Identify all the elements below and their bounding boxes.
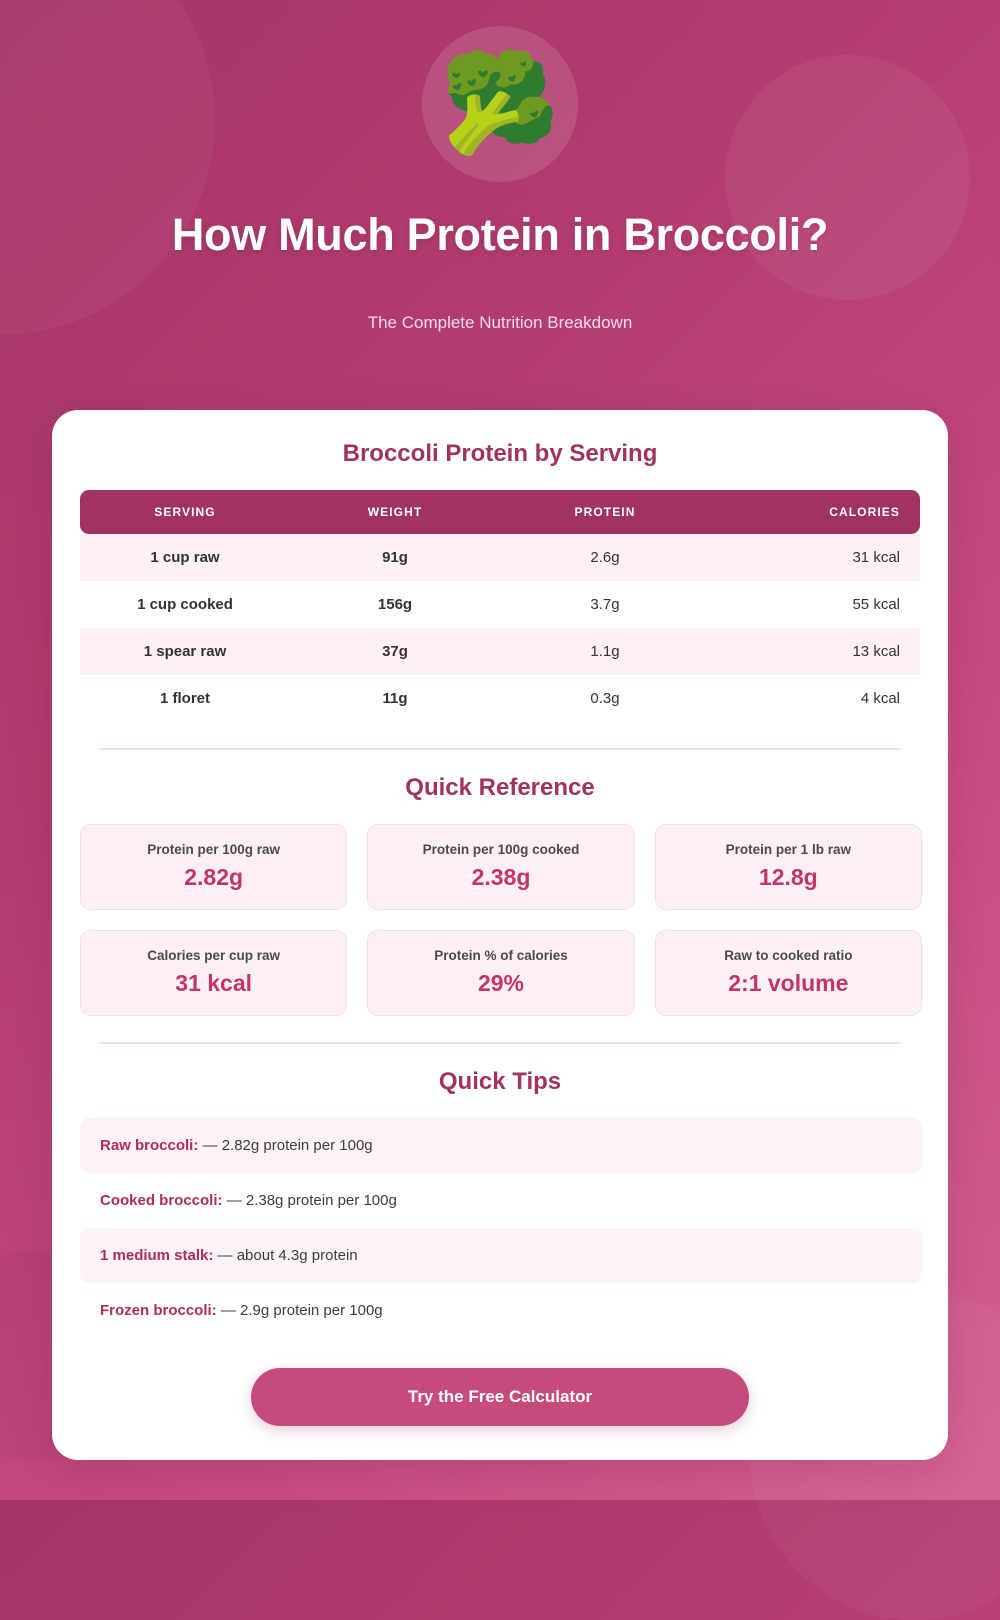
infographic-page: 🥦 How Much Protein in Broccoli? The Comp…	[0, 0, 1000, 1500]
tip-label: Frozen broccoli:	[100, 1302, 217, 1319]
page-title: How Much Protein in Broccoli?	[0, 208, 1000, 263]
section-divider-1	[99, 748, 901, 750]
qr-card-value: 29%	[378, 970, 623, 997]
table-header-row: SERVING WEIGHT PROTEIN CALORIES	[80, 490, 920, 534]
cell-serving: 1 cup cooked	[80, 581, 290, 628]
quick-reference-card: Calories per cup raw 31 kcal	[80, 930, 347, 1016]
content-card: Broccoli Protein by Serving SERVING WEIG…	[52, 410, 948, 1460]
cell-weight: 37g	[290, 628, 500, 675]
qr-card-value: 2.82g	[91, 864, 336, 891]
quick-reference-card: Protein per 100g raw 2.82g	[80, 824, 347, 910]
qr-card-value: 2.38g	[378, 864, 623, 891]
qr-card-label: Raw to cooked ratio	[666, 948, 911, 963]
broccoli-icon: 🥦	[440, 56, 560, 152]
tip-label: Cooked broccoli:	[100, 1192, 223, 1209]
tip-label: 1 medium stalk:	[100, 1247, 213, 1264]
qr-card-label: Protein per 100g cooked	[378, 842, 623, 857]
qr-card-value: 2:1 volume	[666, 970, 911, 997]
tip-label: Raw broccoli:	[100, 1137, 198, 1154]
qr-card-value: 12.8g	[666, 864, 911, 891]
qr-card-value: 31 kcal	[91, 970, 336, 997]
table-row: 1 cup cooked 156g 3.7g 55 kcal	[80, 581, 920, 628]
tip-text: — about 4.3g protein	[218, 1247, 358, 1264]
cell-protein: 2.6g	[500, 534, 710, 581]
column-header-serving: SERVING	[80, 490, 290, 534]
section-divider-2	[99, 1042, 901, 1044]
tip-row: Raw broccoli: — 2.82g protein per 100g	[80, 1118, 922, 1173]
cta-container: Try the Free Calculator	[80, 1368, 920, 1426]
table-row: 1 cup raw 91g 2.6g 31 kcal	[80, 534, 920, 581]
quick-reference-card: Protein per 1 lb raw 12.8g	[655, 824, 922, 910]
cell-calories: 55 kcal	[710, 581, 920, 628]
nutrition-table: SERVING WEIGHT PROTEIN CALORIES 1 cup ra…	[80, 490, 920, 722]
try-free-calculator-button[interactable]: Try the Free Calculator	[251, 1368, 749, 1426]
cell-serving: 1 spear raw	[80, 628, 290, 675]
quick-reference-title: Quick Reference	[80, 774, 920, 802]
cell-weight: 91g	[290, 534, 500, 581]
table-row: 1 spear raw 37g 1.1g 13 kcal	[80, 628, 920, 675]
qr-card-label: Protein per 100g raw	[91, 842, 336, 857]
quick-reference-card: Protein % of calories 29%	[367, 930, 634, 1016]
qr-card-label: Calories per cup raw	[91, 948, 336, 963]
cell-calories: 31 kcal	[710, 534, 920, 581]
cell-calories: 13 kcal	[710, 628, 920, 675]
column-header-protein: PROTEIN	[500, 490, 710, 534]
qr-card-label: Protein % of calories	[378, 948, 623, 963]
column-header-calories: CALORIES	[710, 490, 920, 534]
column-header-weight: WEIGHT	[290, 490, 500, 534]
table-section-title: Broccoli Protein by Serving	[80, 440, 920, 468]
cell-serving: 1 cup raw	[80, 534, 290, 581]
quick-tips-title: Quick Tips	[80, 1068, 920, 1096]
hero-header: 🥦 How Much Protein in Broccoli? The Comp…	[0, 0, 1000, 333]
tip-text: — 2.38g protein per 100g	[227, 1192, 397, 1209]
quick-reference-card: Protein per 100g cooked 2.38g	[367, 824, 634, 910]
tip-row: Frozen broccoli: — 2.9g protein per 100g	[80, 1283, 922, 1338]
table-body: 1 cup raw 91g 2.6g 31 kcal 1 cup cooked …	[80, 534, 920, 722]
page-subtitle: The Complete Nutrition Breakdown	[0, 313, 1000, 333]
quick-reference-grid: Protein per 100g raw 2.82g Protein per 1…	[80, 824, 922, 1016]
cell-calories: 4 kcal	[710, 675, 920, 722]
footer-brand: MissVickie.com	[0, 1442, 1000, 1458]
table-header: SERVING WEIGHT PROTEIN CALORIES	[80, 490, 920, 534]
cell-protein: 1.1g	[500, 628, 710, 675]
tip-text: — 2.82g protein per 100g	[203, 1137, 373, 1154]
tip-row: Cooked broccoli: — 2.38g protein per 100…	[80, 1173, 922, 1228]
cell-protein: 3.7g	[500, 581, 710, 628]
cell-serving: 1 floret	[80, 675, 290, 722]
cell-protein: 0.3g	[500, 675, 710, 722]
table-row: 1 floret 11g 0.3g 4 kcal	[80, 675, 920, 722]
broccoli-icon-badge: 🥦	[422, 26, 578, 182]
quick-reference-card: Raw to cooked ratio 2:1 volume	[655, 930, 922, 1016]
quick-tips-list: Raw broccoli: — 2.82g protein per 100g C…	[80, 1118, 922, 1338]
tip-row: 1 medium stalk: — about 4.3g protein	[80, 1228, 922, 1283]
qr-card-label: Protein per 1 lb raw	[666, 842, 911, 857]
cell-weight: 11g	[290, 675, 500, 722]
tip-text: — 2.9g protein per 100g	[221, 1302, 383, 1319]
cell-weight: 156g	[290, 581, 500, 628]
